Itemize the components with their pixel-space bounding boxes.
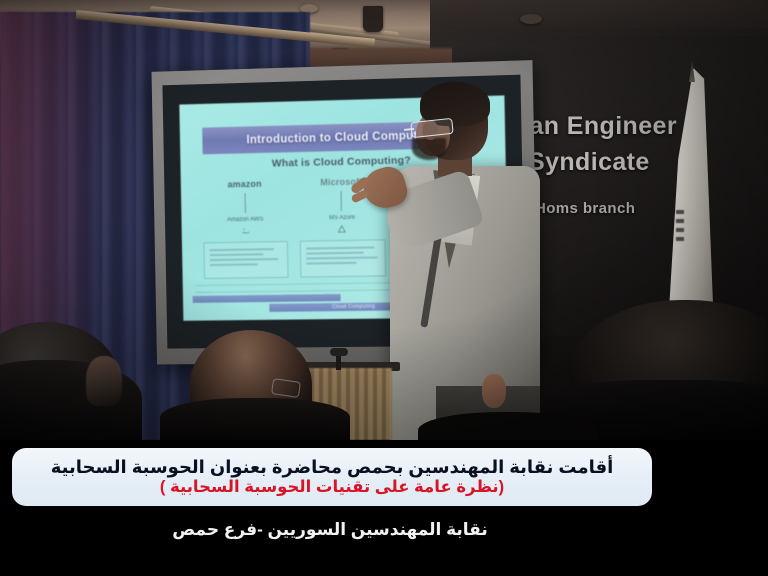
- audience-hand: [86, 356, 122, 406]
- caption-headline: أقامت نقابة المهندسين بحمص محاضرة بعنوان…: [51, 457, 614, 478]
- slide-column-amazon: amazon Amazon AWS: [197, 178, 295, 280]
- audience-shoulders: [160, 398, 350, 440]
- flag-emblem-mark: [676, 210, 684, 244]
- ceiling-dome-light-icon: [520, 14, 542, 24]
- presenter: [390, 86, 565, 440]
- amazon-logo-icon: amazon: [227, 178, 261, 189]
- presenter-resting-hand: [482, 374, 506, 408]
- service-label-azure: MS Azure: [329, 214, 355, 223]
- slide-footer-label: Cloud Computing: [332, 304, 375, 311]
- presenter-beard: [412, 138, 446, 160]
- slide-text-box: [204, 241, 289, 280]
- audience-member: [418, 412, 598, 440]
- caption-subheadline: (نظرة عامة على تقنيات الحوسبة السحابية ): [160, 478, 504, 497]
- microphone-icon: [330, 348, 348, 356]
- caption-source: نقابة المهندسين السوريين -فرع حمص: [0, 520, 660, 540]
- caption-box: أقامت نقابة المهندسين بحمص محاضرة بعنوان…: [12, 448, 652, 506]
- azure-icon: [336, 224, 349, 234]
- ceiling-speaker-icon: [363, 6, 383, 32]
- event-photograph: rian Engineer Syndicate Homs branch Intr…: [0, 0, 768, 440]
- aws-icon: [239, 226, 252, 236]
- service-label-aws: Amazon AWS: [227, 216, 263, 225]
- connector-line-icon: [341, 191, 342, 211]
- screenshot-root: rian Engineer Syndicate Homs branch Intr…: [0, 0, 768, 576]
- caption-strip: أقامت نقابة المهندسين بحمص محاضرة بعنوان…: [0, 440, 768, 576]
- slide-text-box: [300, 239, 387, 278]
- connector-line-icon: [244, 193, 245, 213]
